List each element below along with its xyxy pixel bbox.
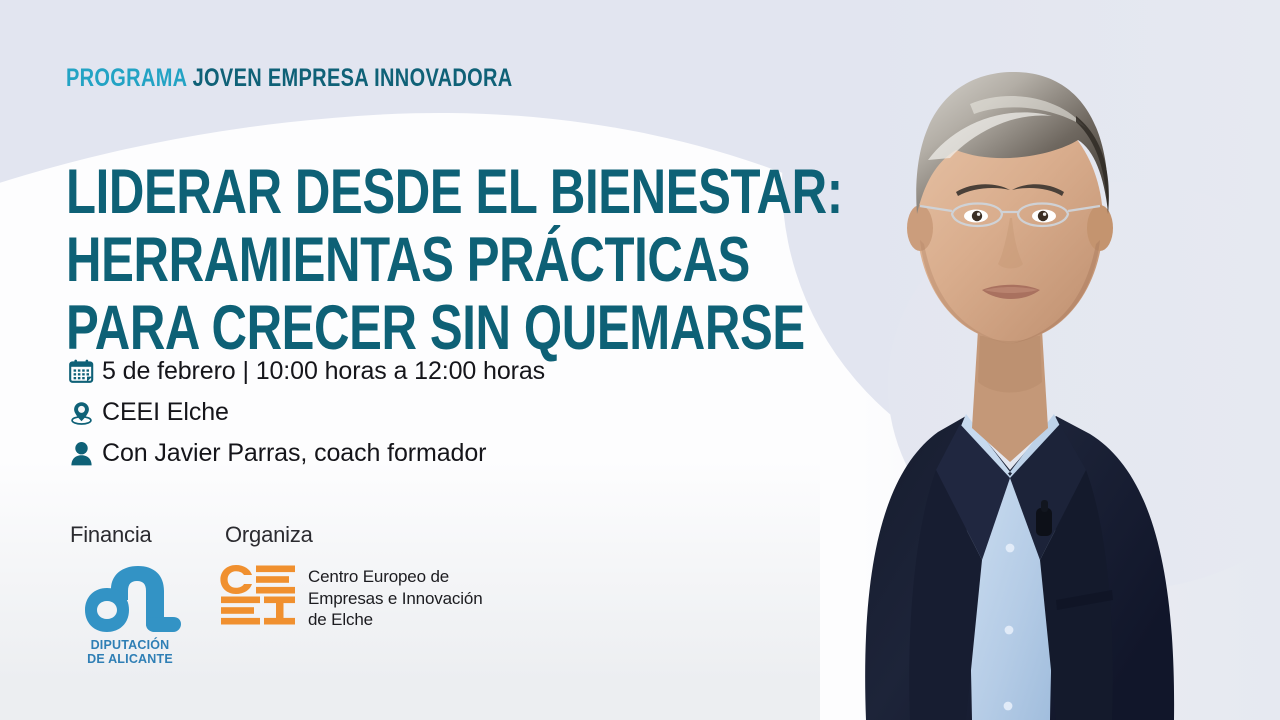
diputacion-caption: DIPUTACIÓN DE ALICANTE xyxy=(74,639,186,666)
financia-label: Financia xyxy=(70,522,225,548)
poster-content: PROGRAMA JOVEN EMPRESA INNOVADORA LIDERA… xyxy=(66,0,786,720)
detail-row-location: CEEI Elche xyxy=(68,393,545,431)
logo-diputacion-alicante: DIPUTACIÓN DE ALICANTE xyxy=(70,562,220,666)
detail-speaker-text: Con Javier Parras, coach formador xyxy=(102,439,486,468)
program-name: JOVEN EMPRESA INNOVADORA xyxy=(193,64,513,92)
ceei-text-line-3: de Elche xyxy=(308,609,483,631)
ceei-text: Centro Europeo de Empresas e Innovación … xyxy=(308,564,483,631)
diputacion-mark-icon xyxy=(76,562,184,637)
title-line-2: HERRAMIENTAS PRÁCTICAS xyxy=(66,226,843,294)
speaker-head xyxy=(907,72,1113,344)
speaker-suit xyxy=(865,414,1174,720)
program-prefix: PROGRAMA xyxy=(66,64,187,92)
ceei-text-line-1: Centro Europeo de xyxy=(308,566,483,588)
title-line-1: LIDERAR DESDE EL BIENESTAR: xyxy=(66,158,843,226)
program-eyebrow: PROGRAMA JOVEN EMPRESA INNOVADORA xyxy=(66,66,513,91)
organiza-label: Organiza xyxy=(225,522,313,548)
detail-row-speaker: Con Javier Parras, coach formador xyxy=(68,434,545,472)
event-poster: PROGRAMA JOVEN EMPRESA INNOVADORA LIDERA… xyxy=(0,0,1280,720)
calendar-icon xyxy=(68,358,102,385)
detail-location-text: CEEI Elche xyxy=(102,398,229,427)
location-pin-icon xyxy=(68,399,102,426)
diputacion-caption-line-2: DE ALICANTE xyxy=(74,653,186,667)
detail-date-text: 5 de febrero | 10:00 horas a 12:00 horas xyxy=(102,357,545,386)
event-details: 5 de febrero | 10:00 horas a 12:00 horas… xyxy=(68,352,545,475)
ceei-mark-icon xyxy=(220,564,296,626)
logo-ceei-elche: Centro Europeo de Empresas e Innovación … xyxy=(220,564,483,631)
person-icon xyxy=(68,440,102,467)
page-title: LIDERAR DESDE EL BIENESTAR: HERRAMIENTAS… xyxy=(66,158,843,362)
diputacion-caption-line-1: DIPUTACIÓN xyxy=(74,639,186,653)
detail-row-date: 5 de febrero | 10:00 horas a 12:00 horas xyxy=(68,352,545,390)
sponsors-section: Financia Organiza DIPUTACIÓN xyxy=(70,522,483,666)
ceei-text-line-2: Empresas e Innovación xyxy=(308,588,483,610)
